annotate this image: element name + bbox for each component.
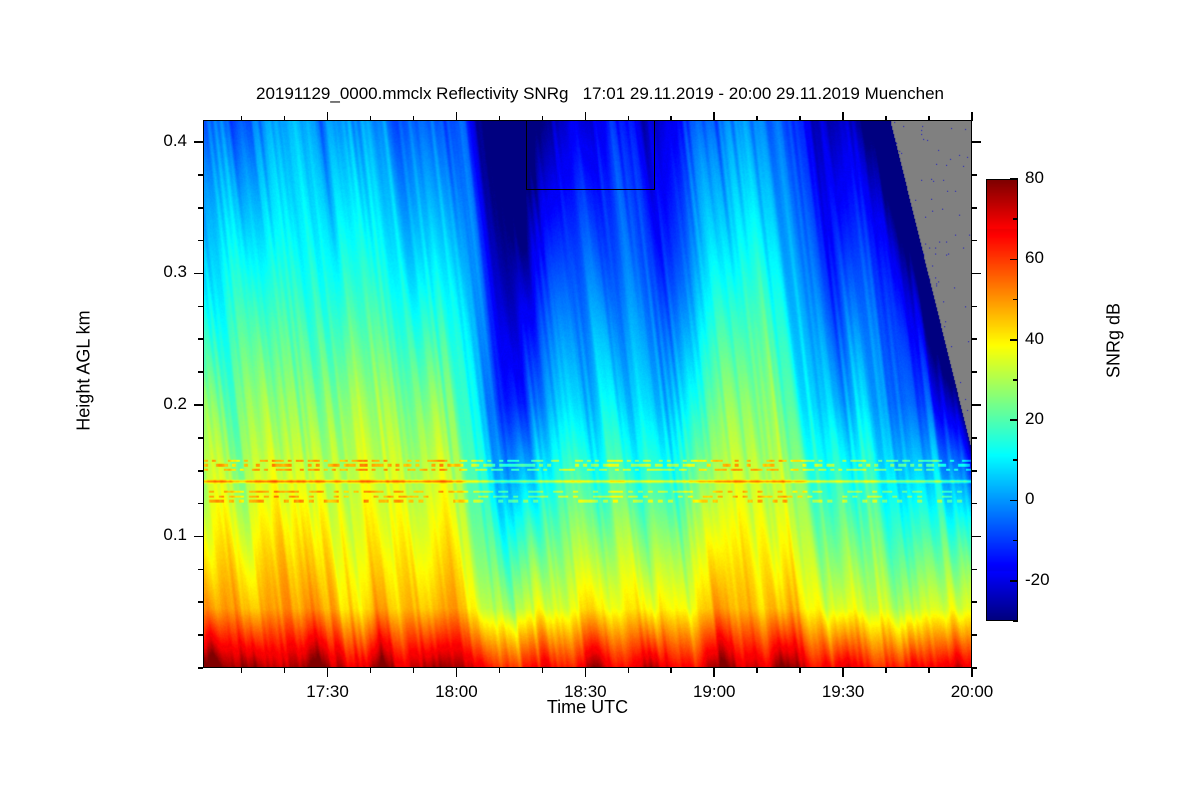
x-tick-minor — [756, 668, 758, 673]
y-tick-minor-right — [972, 667, 977, 669]
colorbar-tick-label: 60 — [1025, 248, 1044, 268]
y-tick-minor-right — [972, 601, 977, 603]
colorbar-tick-major — [1010, 178, 1018, 180]
y-tick-minor — [198, 503, 203, 505]
colorbar-tick-label: -20 — [1025, 570, 1050, 590]
x-tick-major-top — [713, 112, 715, 121]
x-tick-major-top — [327, 112, 329, 121]
x-tick-minor-top — [413, 116, 415, 121]
heatmap-canvas — [204, 121, 971, 667]
colorbar-tick-label: 40 — [1025, 329, 1044, 349]
x-tick-minor-top — [799, 116, 801, 121]
y-axis-title: Height AGL km — [74, 271, 95, 471]
x-tick-minor — [928, 668, 930, 673]
y-tick-minor — [198, 634, 203, 636]
x-tick-minor-top — [241, 116, 243, 121]
colorbar-tick-label: 0 — [1025, 489, 1034, 509]
y-tick-minor — [198, 601, 203, 603]
y-tick-minor — [198, 240, 203, 242]
colorbar-tick-minor — [1013, 299, 1018, 301]
x-tick-major-top — [971, 112, 973, 121]
colorbar-tick-major — [1010, 419, 1018, 421]
colorbar-tick-major — [1010, 339, 1018, 341]
y-tick-major — [194, 404, 203, 406]
x-tick-minor — [799, 668, 801, 673]
y-tick-major-right — [972, 536, 981, 538]
y-tick-minor-right — [972, 437, 977, 439]
y-tick-minor — [198, 371, 203, 373]
x-tick-minor — [885, 668, 887, 673]
y-tick-major-right — [972, 404, 981, 406]
x-tick-minor-top — [628, 116, 630, 121]
x-tick-minor-top — [499, 116, 501, 121]
x-tick-minor-top — [756, 116, 758, 121]
y-tick-label: 0.2 — [127, 394, 187, 414]
colorbar-tick-minor — [1013, 218, 1018, 220]
y-tick-minor-right — [972, 306, 977, 308]
colorbar-tick-minor — [1013, 379, 1018, 381]
y-tick-minor-right — [972, 634, 977, 636]
x-tick-minor — [241, 668, 243, 673]
colorbar-tick-minor — [1013, 620, 1018, 622]
colorbar-tick-major — [1010, 580, 1018, 582]
x-tick-minor-top — [542, 116, 544, 121]
y-tick-minor — [198, 569, 203, 571]
x-tick-minor — [628, 668, 630, 673]
y-tick-minor — [198, 470, 203, 472]
x-tick-major — [585, 668, 587, 677]
x-tick-major — [713, 668, 715, 677]
y-tick-minor-right — [972, 371, 977, 373]
x-tick-major — [456, 668, 458, 677]
y-tick-minor — [198, 667, 203, 669]
y-tick-major-right — [972, 141, 981, 143]
colorbar-tick-major — [1010, 500, 1018, 502]
colorbar-title: SNRg dB — [1104, 241, 1125, 441]
y-tick-minor-right — [972, 207, 977, 209]
x-tick-minor-top — [670, 116, 672, 121]
x-tick-minor — [284, 668, 286, 673]
x-tick-minor-top — [370, 116, 372, 121]
colorbar-tick-label: 20 — [1025, 409, 1044, 429]
y-tick-major — [194, 141, 203, 143]
x-tick-minor-top — [284, 116, 286, 121]
y-tick-minor — [198, 338, 203, 340]
y-tick-minor-right — [972, 470, 977, 472]
colorbar-wrap[interactable] — [986, 179, 1018, 621]
y-tick-minor-right — [972, 569, 977, 571]
x-axis-title: Time UTC — [203, 697, 972, 718]
colorbar-canvas — [987, 180, 1017, 620]
y-tick-label: 0.1 — [127, 525, 187, 545]
y-tick-label: 0.4 — [127, 131, 187, 151]
x-tick-major — [971, 668, 973, 677]
x-tick-major-top — [842, 112, 844, 121]
x-tick-minor — [499, 668, 501, 673]
colorbar — [986, 179, 1018, 621]
x-tick-major-top — [456, 112, 458, 121]
colorbar-tick-minor — [1013, 459, 1018, 461]
x-tick-major — [842, 668, 844, 677]
y-tick-major — [194, 536, 203, 538]
x-tick-minor — [413, 668, 415, 673]
figure-root: 20191129_0000.mmclx Reflectivity SNRg 17… — [0, 0, 1200, 800]
heatmap-plot-area[interactable] — [203, 120, 972, 668]
colorbar-tick-label: 80 — [1025, 168, 1044, 188]
y-tick-minor-right — [972, 338, 977, 340]
x-tick-minor — [542, 668, 544, 673]
y-tick-minor — [198, 437, 203, 439]
figure-title: 20191129_0000.mmclx Reflectivity SNRg 17… — [0, 84, 1200, 104]
x-tick-minor — [670, 668, 672, 673]
y-tick-minor-right — [972, 240, 977, 242]
colorbar-tick-major — [1010, 259, 1018, 261]
x-tick-major — [327, 668, 329, 677]
colorbar-tick-minor — [1013, 540, 1018, 542]
y-tick-minor-right — [972, 174, 977, 176]
y-tick-major — [194, 273, 203, 275]
y-tick-minor — [198, 207, 203, 209]
y-tick-minor-right — [972, 503, 977, 505]
x-tick-minor — [370, 668, 372, 673]
x-tick-minor-top — [928, 116, 930, 121]
y-tick-minor — [198, 306, 203, 308]
x-tick-minor-top — [885, 116, 887, 121]
y-tick-minor — [198, 174, 203, 176]
y-tick-major-right — [972, 273, 981, 275]
y-tick-label: 0.3 — [127, 262, 187, 282]
x-tick-major-top — [585, 112, 587, 121]
